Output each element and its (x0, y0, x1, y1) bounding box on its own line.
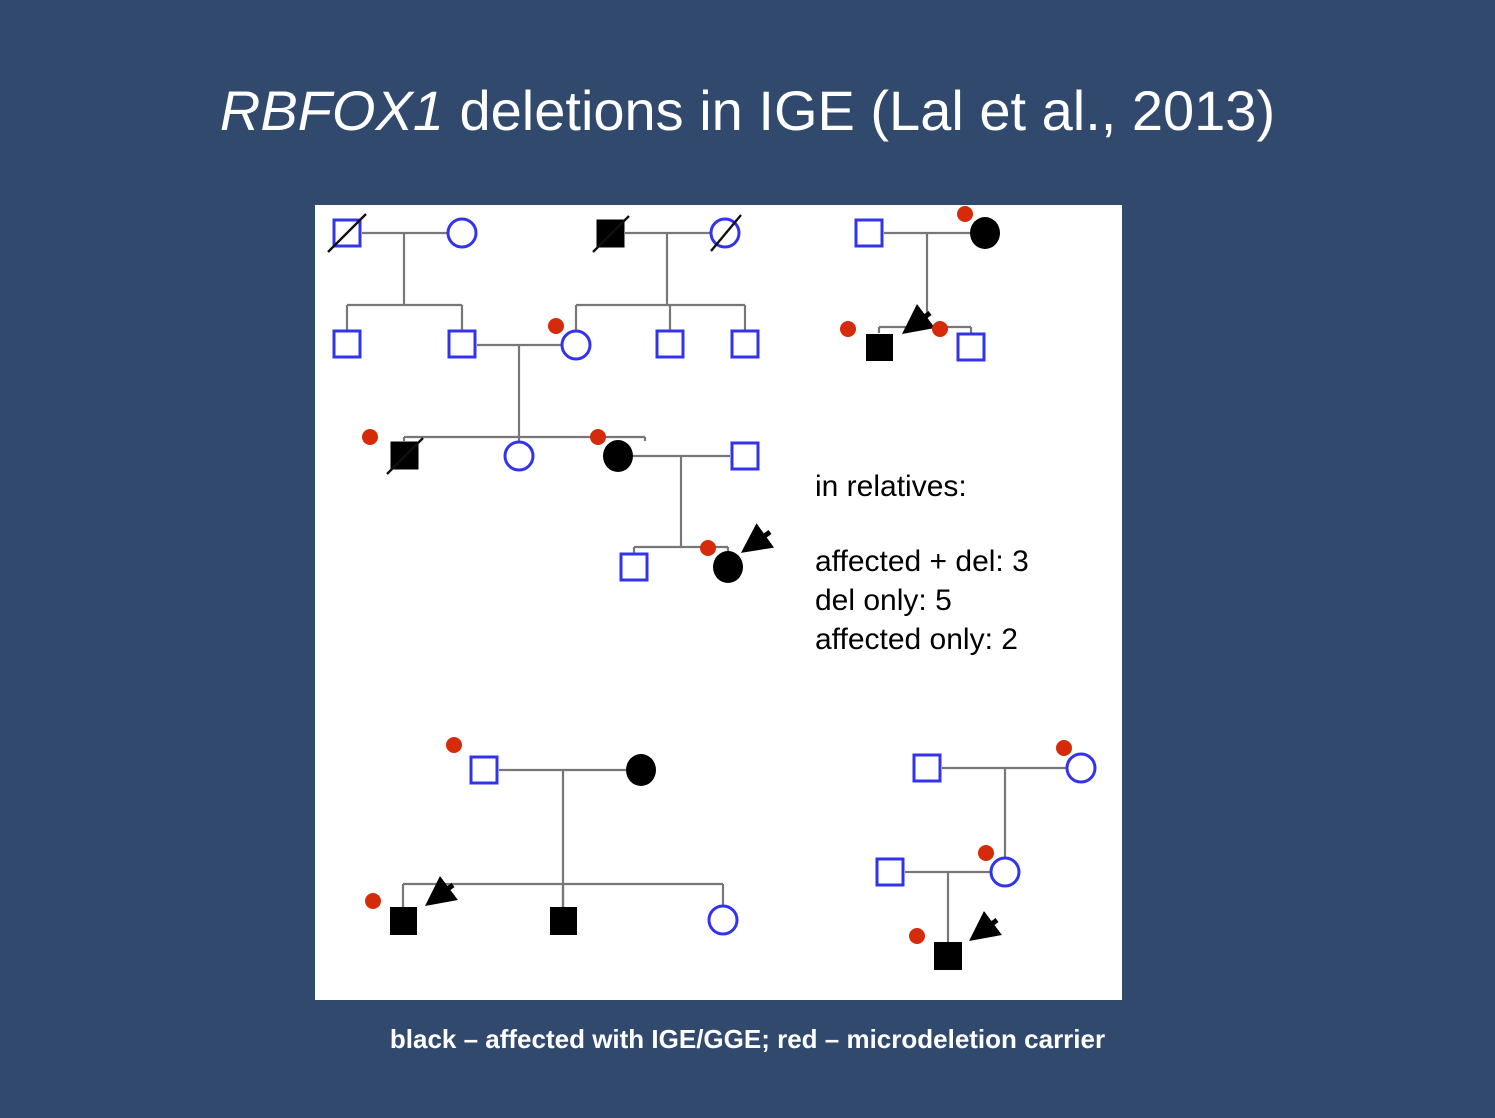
symbol-f1-II-1-male[interactable] (334, 331, 360, 357)
figure-caption: black – affected with IGE/GGE; red – mic… (0, 1024, 1495, 1055)
slide-root: RBFOX1 deletions in IGE (Lal et al., 201… (0, 0, 1495, 1118)
pedigree-figure-panel: in relatives: affected + del: 3 del only… (315, 205, 1122, 1000)
symbol-f3-I-2-female-affected[interactable] (626, 754, 656, 786)
symbol-f1-III-2-female[interactable] (505, 442, 533, 470)
symbol-f1-III-3-female-affected-carrier[interactable] (590, 429, 633, 472)
red-dot-carrier-icon (909, 928, 925, 944)
gene-name: RBFOX1 (220, 79, 444, 142)
stats-heading: in relatives: (815, 467, 1029, 506)
symbol-f1-II-2-male[interactable] (449, 331, 475, 357)
symbol-f4-I-2-female-carrier[interactable] (1056, 740, 1095, 782)
symbol-f2-I-1-male[interactable] (856, 220, 882, 246)
red-dot-carrier-icon (590, 429, 606, 445)
symbol-f3-II-1-male-affected-carrier-proband[interactable] (365, 885, 453, 935)
family-3-connectors (403, 770, 723, 917)
symbol-f4-I-1-male[interactable] (914, 755, 940, 781)
red-dot-carrier-icon (362, 429, 378, 445)
relatives-stats-block: in relatives: affected + del: 3 del only… (815, 467, 1029, 659)
stats-spacer (815, 506, 1029, 542)
symbol-f1-II-3-female-carrier[interactable] (548, 318, 590, 359)
red-dot-carrier-icon (365, 893, 381, 909)
symbol-f1-I-2-female[interactable] (448, 219, 476, 247)
symbol-f4-III-1-male-affected-carrier-proband[interactable] (909, 920, 997, 970)
red-dot-carrier-icon (446, 737, 462, 753)
stats-affected-and-del: affected + del: 3 (815, 542, 1029, 581)
symbol-f4-II-1-male[interactable] (877, 859, 903, 885)
title-rest: deletions in IGE (Lal et al., 2013) (444, 79, 1275, 142)
symbol-f3-II-2-male-affected[interactable] (550, 907, 577, 935)
red-dot-carrier-icon (1056, 740, 1072, 756)
proband-arrow-icon (429, 885, 453, 903)
stats-del-only: del only: 5 (815, 581, 1029, 620)
red-dot-carrier-icon (548, 318, 564, 334)
symbol-f1-I-1-male-deceased[interactable] (328, 214, 366, 252)
symbol-f3-I-1-male-carrier[interactable] (446, 737, 497, 783)
symbol-f1-IV-2-female-affected-carrier-proband[interactable] (700, 532, 770, 583)
symbol-f1-I-4-female-deceased[interactable] (711, 215, 741, 251)
red-dot-carrier-icon (700, 540, 716, 556)
red-dot-carrier-icon (957, 206, 973, 222)
symbol-f2-II-1-male-affected-carrier-proband[interactable] (840, 313, 930, 361)
symbol-f1-III-4-male[interactable] (732, 443, 758, 469)
symbol-f2-I-2-female-affected-carrier[interactable] (957, 206, 1000, 249)
symbol-f4-II-2-female-carrier[interactable] (978, 845, 1019, 886)
red-dot-carrier-icon (840, 321, 856, 337)
proband-arrow-icon (745, 532, 770, 550)
red-dot-carrier-icon (932, 321, 948, 337)
red-dot-carrier-icon (978, 845, 994, 861)
page-title: RBFOX1 deletions in IGE (Lal et al., 201… (0, 78, 1495, 144)
symbol-f1-II-4-male[interactable] (657, 331, 683, 357)
symbol-f1-II-5-male[interactable] (732, 331, 758, 357)
stats-affected-only: affected only: 2 (815, 620, 1029, 659)
symbol-f1-I-3-male-affected-deceased[interactable] (593, 216, 629, 252)
symbol-f1-III-1-male-affected-carrier-deceased[interactable] (362, 429, 423, 474)
symbol-f1-IV-1-male[interactable] (621, 554, 647, 580)
proband-arrow-icon (973, 920, 997, 938)
family-1-connectors (347, 233, 745, 553)
symbol-f3-II-3-female[interactable] (709, 906, 737, 934)
